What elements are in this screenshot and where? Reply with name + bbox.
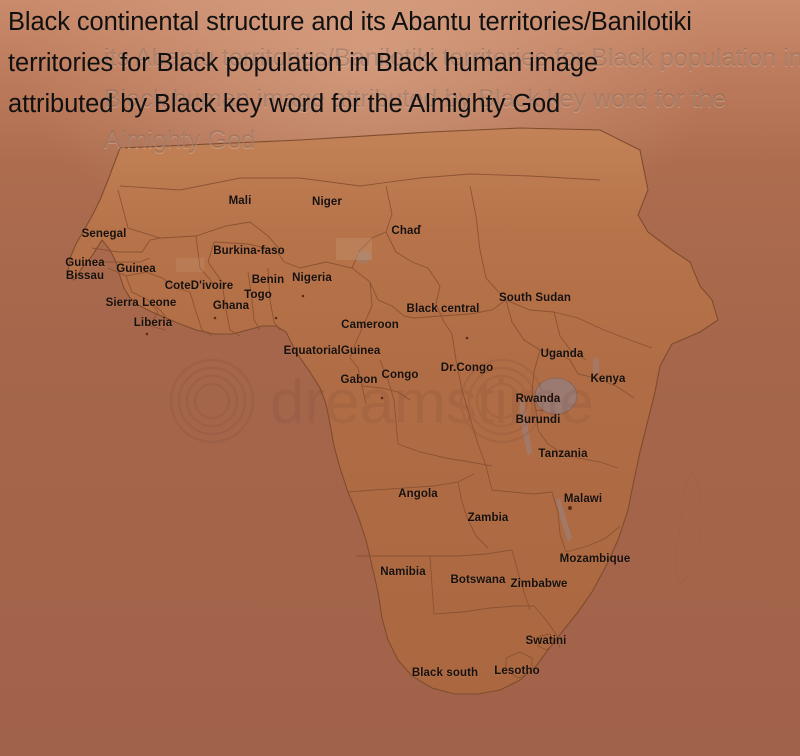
- map-label-black-central: Black central: [407, 303, 480, 316]
- map-label-dr-congo: Dr.Congo: [441, 362, 494, 375]
- map-label-guinea: Guinea: [116, 263, 156, 276]
- map-label-lesotho: Lesotho: [494, 665, 539, 678]
- map-label-coteivoire: CoteD'ivoire: [165, 280, 233, 293]
- map-label-gabon: Gabon: [341, 374, 378, 387]
- map-label-senegal: Senegal: [82, 228, 127, 241]
- map-label-equatorial-guinea: EquatorialGuinea: [284, 345, 381, 358]
- map-label-tanzania: Tanzania: [538, 448, 587, 461]
- map-label-burkina-faso: Burkina-faso: [213, 245, 285, 258]
- map-label-niger: Niger: [312, 196, 342, 209]
- map-label-swatini: Swatini: [526, 635, 567, 648]
- map-label-botswana: Botswana: [450, 574, 505, 587]
- map-label-ghana: Ghana: [213, 300, 249, 313]
- map-label-nigeria: Nigeria: [292, 272, 332, 285]
- madagascar: [674, 470, 702, 584]
- map-label-sierra-leone: Sierra Leone: [106, 297, 177, 310]
- map-label-namibia: Namibia: [380, 566, 425, 579]
- map-label-malawi: Malawi: [564, 493, 602, 506]
- map-label-mali: Mali: [229, 195, 252, 208]
- map-label-chad: Chad: [391, 225, 420, 238]
- map-label-black-south: Black south: [412, 667, 478, 680]
- map-label-zimbabwe: Zimbabwe: [510, 578, 567, 591]
- map-label-zambia: Zambia: [468, 512, 509, 525]
- map-label-uganda: Uganda: [541, 348, 584, 361]
- map-label-benin: Benin: [252, 274, 284, 287]
- map-label-rwanda: Rwanda: [516, 393, 561, 406]
- sahara-patch-2: [176, 258, 204, 272]
- map-label-guinea-bissau: Guinea Bissau: [65, 257, 105, 283]
- map-label-angola: Angola: [398, 488, 438, 501]
- map-label-kenya: Kenya: [590, 373, 625, 386]
- map-label-burundi: Burundi: [516, 414, 561, 427]
- map-screenshot: dreamstime its Abantu territories/Banilo…: [0, 0, 800, 756]
- map-label-mozambique: Mozambique: [560, 553, 631, 566]
- map-label-liberia: Liberia: [134, 317, 172, 330]
- map-label-cameroon: Cameroon: [341, 319, 399, 332]
- map-label-south-sudan: South Sudan: [499, 292, 571, 305]
- continent-landmass: [68, 128, 718, 694]
- sahara-patch: [336, 238, 372, 260]
- map-label-congo: Congo: [382, 369, 419, 382]
- page-title: Black continental structure and its Aban…: [8, 2, 708, 125]
